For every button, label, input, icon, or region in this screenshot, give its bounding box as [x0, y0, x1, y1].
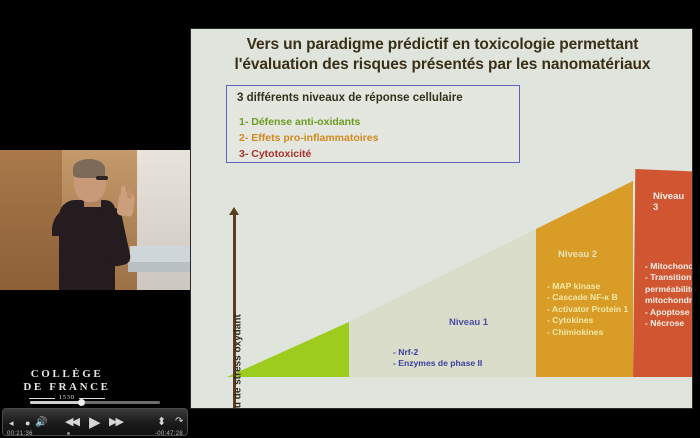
level-3-label: Niveau 3: [653, 191, 687, 213]
chart-wedge-inflammation: [536, 181, 633, 377]
y-axis-label: Niveau de stress oxydant: [233, 295, 244, 410]
level-2-items: - MAP kinase - Cascade NF-κ B - Activato…: [547, 281, 628, 338]
player-controls[interactable]: ◂ ● 🔊 ◀◀ ▶ ▶▶ ⬍ ↷ 00:21:36 -00:47:28: [2, 408, 188, 436]
speaker-icon[interactable]: 🔊: [35, 418, 47, 428]
seek-bar-progress: [30, 401, 79, 404]
college-de-france-logo: COLLÈGE DE FRANCE 1530: [12, 368, 122, 401]
speaker-finger: [121, 186, 126, 198]
seek-bar-handle[interactable]: [78, 399, 85, 406]
logo-line-1: COLLÈGE: [12, 368, 122, 381]
speaker-hand: [116, 191, 135, 217]
volume-level-icon[interactable]: ●: [25, 419, 30, 428]
fullscreen-icon[interactable]: ⬍: [157, 417, 166, 428]
time-elapsed: 00:21:36: [7, 431, 33, 437]
lectern-base: [128, 262, 190, 272]
slide-title-line-1: Vers un paradigme prédictif en toxicolog…: [203, 35, 682, 55]
lecture-hall-wall-left: [0, 150, 62, 290]
level-3-items: - Mitochondries - Transition de perméabi…: [645, 261, 693, 329]
oxidative-stress-chart: Niveau 1 Niveau 2 Niveau 3 - Nrf-2 - Enz…: [213, 169, 687, 377]
slide-title-line-2: l'évaluation des risques présentés par l…: [203, 55, 682, 75]
volume-down-icon[interactable]: ◂: [9, 419, 14, 428]
slide-title: Vers un paradigme prédictif en toxicolog…: [203, 35, 682, 75]
speaker-finger-2: [127, 188, 132, 199]
bullet-level-2: 2- Effets pro-inflammatoires: [239, 132, 378, 144]
level-1-label: Niveau 1: [449, 317, 488, 328]
share-icon[interactable]: ↷: [175, 417, 183, 427]
seek-bar[interactable]: [30, 401, 160, 404]
response-levels-heading: 3 différents niveaux de réponse cellulai…: [237, 92, 463, 104]
speaker-video[interactable]: [0, 150, 190, 290]
fast-forward-icon[interactable]: ▶▶: [109, 417, 122, 428]
response-levels-box: 3 différents niveaux de réponse cellulai…: [226, 85, 520, 163]
rewind-icon[interactable]: ◀◀: [65, 417, 78, 428]
play-icon[interactable]: ▶: [89, 415, 101, 430]
seek-bar-container[interactable]: [0, 398, 190, 408]
chart-wedge-normal: [227, 322, 349, 377]
logo-line-2: DE FRANCE: [12, 381, 122, 394]
speaker-glasses: [96, 176, 108, 180]
presentation-slide[interactable]: Vers un paradigme prédictif en toxicolog…: [190, 28, 693, 409]
video-player-page: COLLÈGE DE FRANCE 1530 ◂ ● 🔊 ◀◀ ▶ ▶▶ ⬍ ↷…: [0, 0, 700, 438]
y-axis-arrow: [229, 207, 239, 215]
level-1-items: - Nrf-2 - Enzymes de phase II: [393, 347, 482, 370]
bullet-level-3: 3- Cytotoxicité: [239, 148, 311, 160]
level-2-label: Niveau 2: [558, 249, 597, 260]
time-remaining: -00:47:28: [155, 431, 183, 437]
bullet-level-1: 1- Défense anti-oxidants: [239, 116, 360, 128]
chapter-marker: [67, 432, 70, 435]
